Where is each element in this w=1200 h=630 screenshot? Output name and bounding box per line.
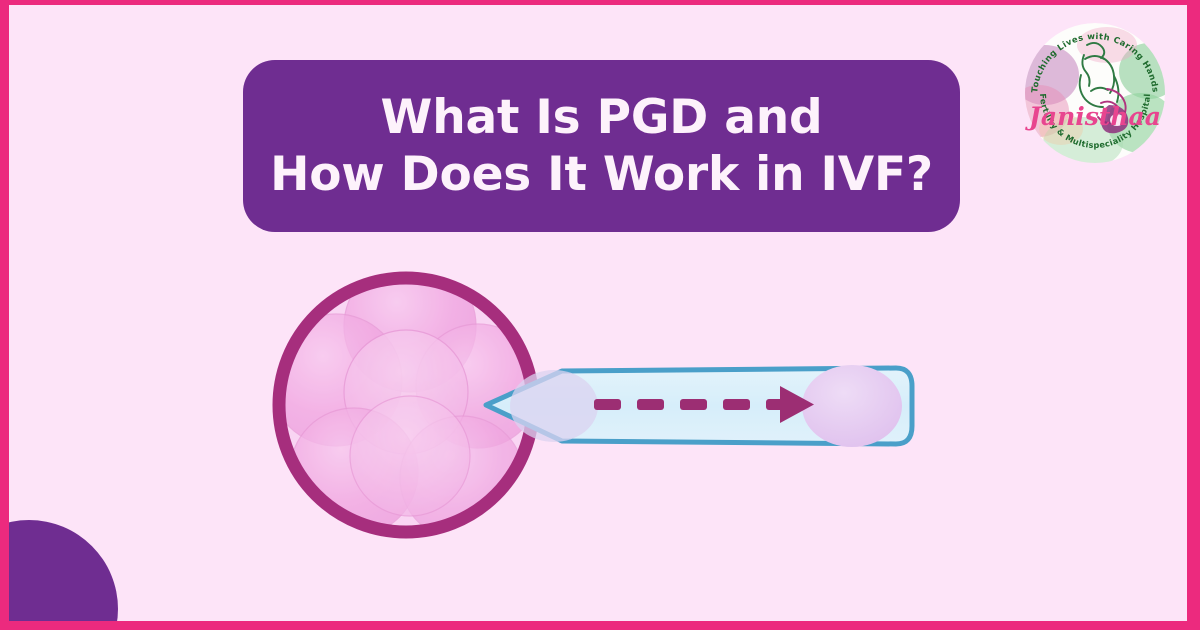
title-line-2: How Does It Work in IVF? bbox=[270, 146, 933, 203]
frame-border-left bbox=[0, 0, 9, 630]
frame-border-bottom bbox=[0, 621, 1200, 630]
arrow-dash bbox=[680, 399, 707, 410]
logo-brand-name: Janisthaa bbox=[1025, 102, 1161, 131]
arrow-dash bbox=[723, 399, 750, 410]
corner-circle-decoration bbox=[0, 520, 118, 630]
arrow-dash bbox=[637, 399, 664, 410]
arrow-dash bbox=[594, 399, 621, 410]
frame-border-top bbox=[0, 0, 1200, 5]
title-line-1: What Is PGD and bbox=[381, 89, 823, 146]
aspirated-cell bbox=[510, 370, 598, 442]
blastomere-cell bbox=[350, 396, 470, 516]
frame-border-right bbox=[1187, 0, 1200, 630]
embryo-biopsy-illustration bbox=[262, 240, 922, 570]
janisthaa-logo[interactable]: Touching Lives with Caring Hands Fertili… bbox=[1021, 19, 1169, 167]
extracted-cell bbox=[802, 365, 902, 447]
poster-canvas: What Is PGD and How Does It Work in IVF? bbox=[0, 0, 1200, 630]
title-banner: What Is PGD and How Does It Work in IVF? bbox=[243, 60, 960, 232]
